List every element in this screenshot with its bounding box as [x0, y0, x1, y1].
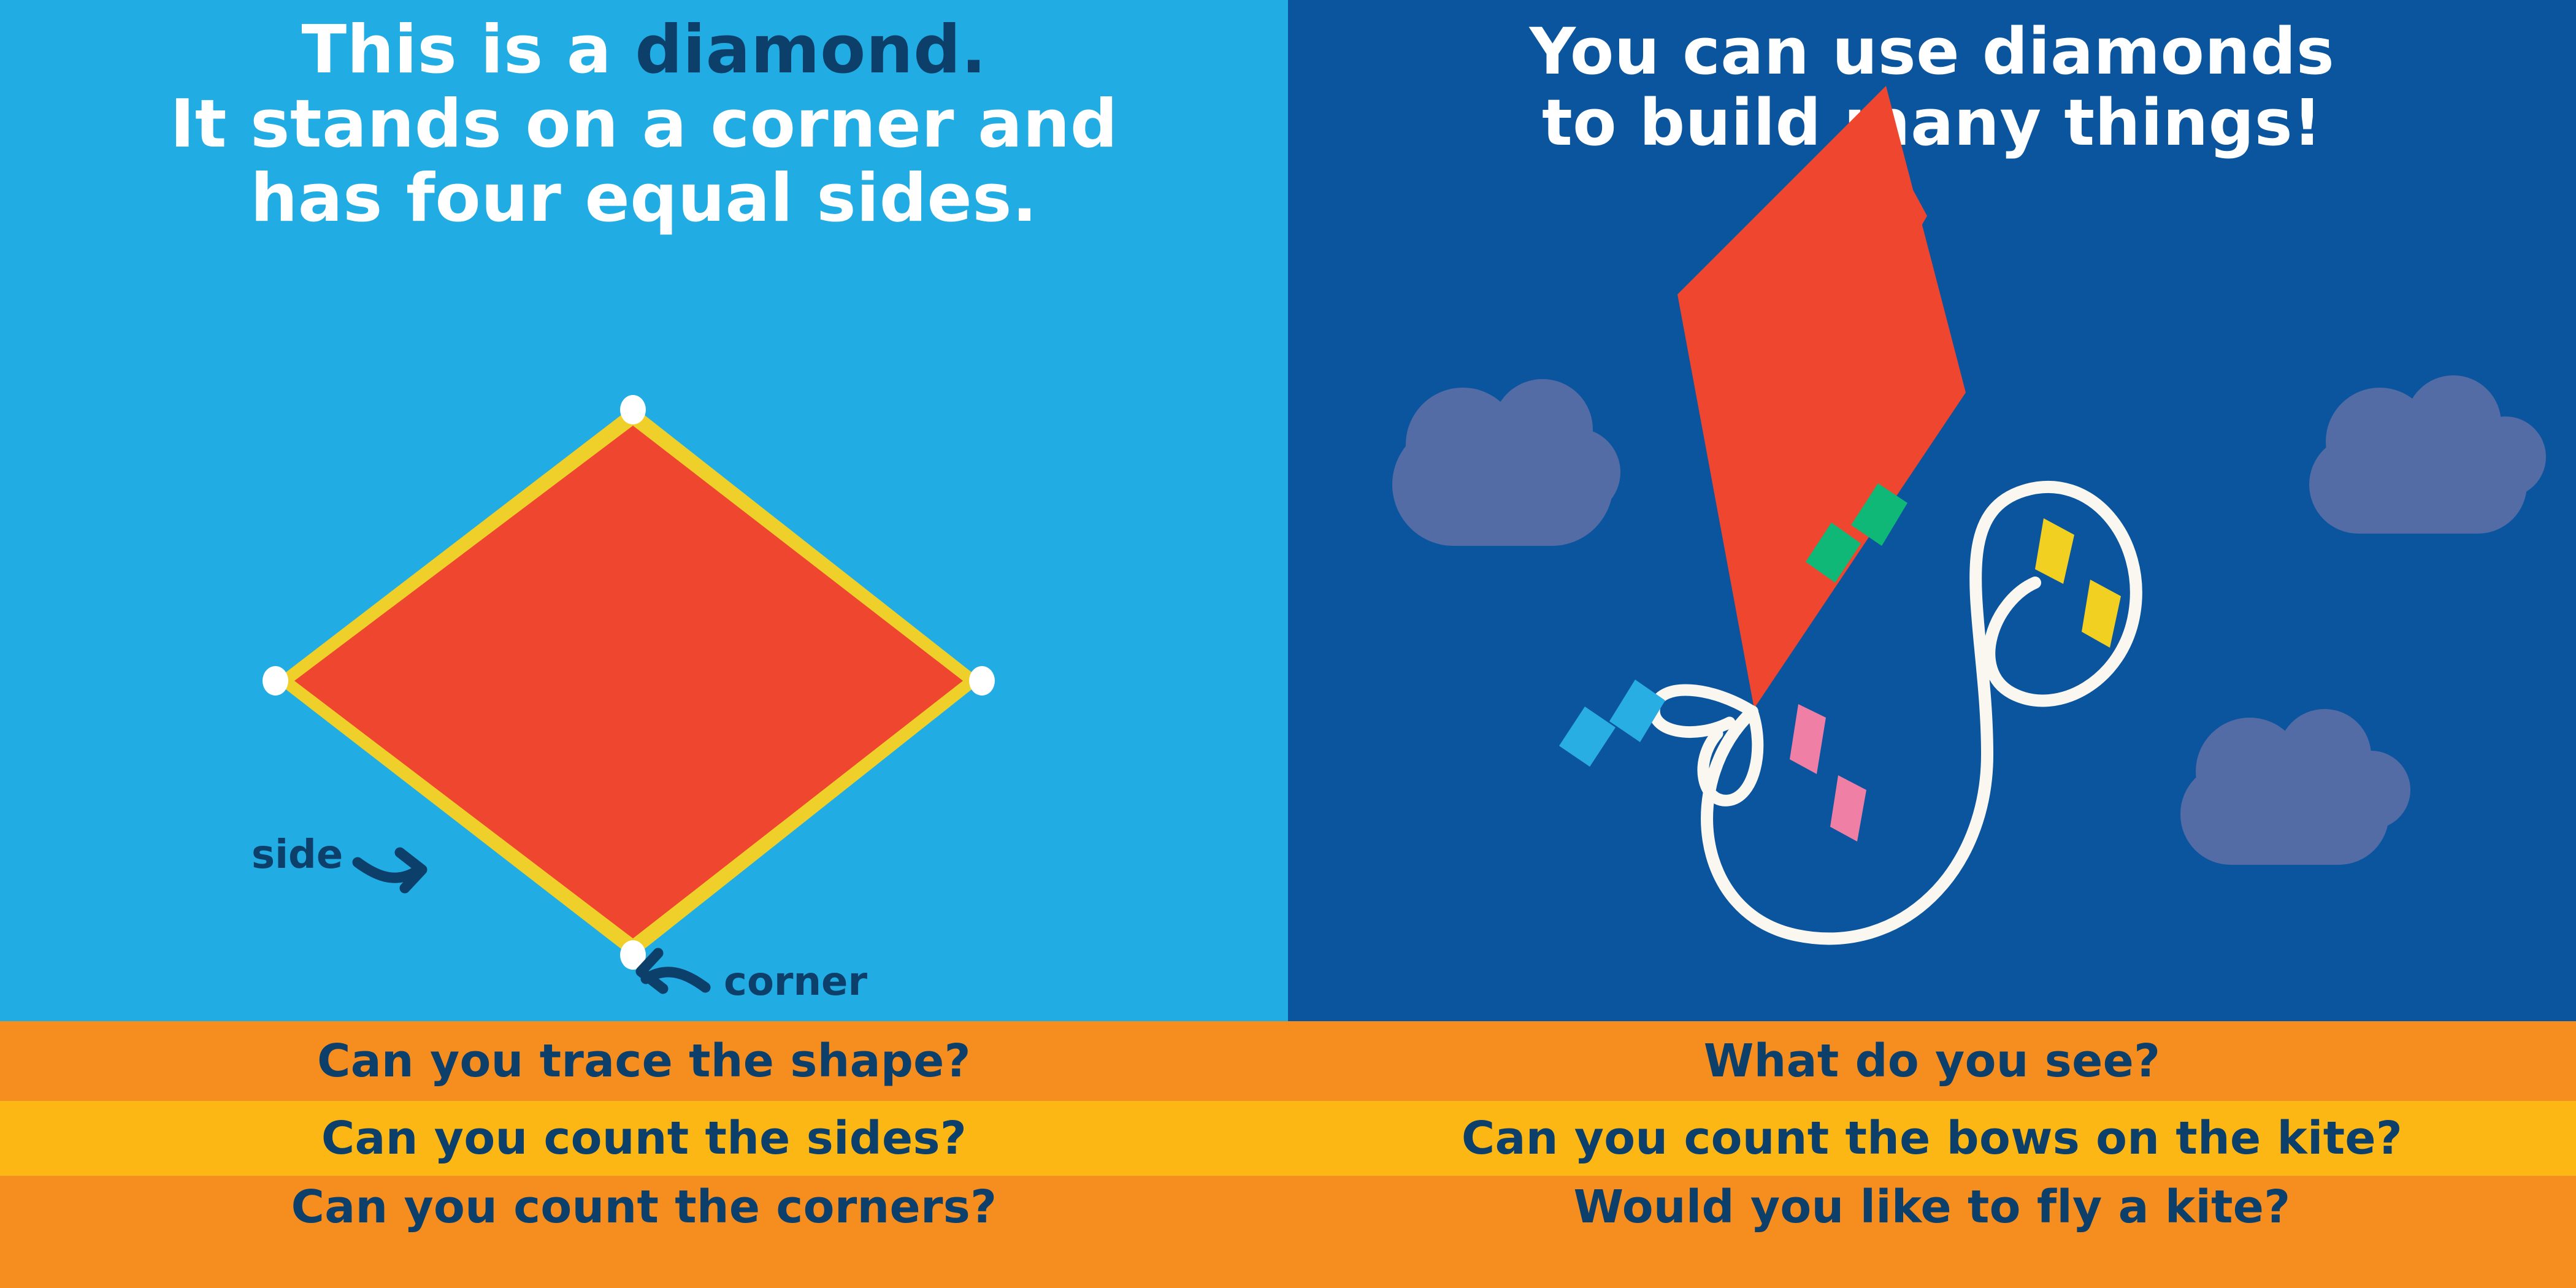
- tail-bow-pink: [1790, 704, 1866, 841]
- question-text: Can you count the corners?: [291, 1181, 997, 1233]
- vertex-dot-top: [620, 395, 646, 424]
- question-cell-right-3: Would you like to fly a kite?: [1288, 1176, 2576, 1288]
- question-band-2: Can you count the sides? Can you count t…: [0, 1101, 2576, 1176]
- question-band-1: Can you trace the shape? What do you see…: [0, 1021, 2576, 1101]
- question-text: Can you count the sides?: [321, 1112, 967, 1165]
- side-label: side: [251, 832, 343, 878]
- tail-bow-yellow: [2035, 518, 2121, 648]
- heading-text-before: This is a: [301, 12, 635, 88]
- vertex-dot-left: [263, 666, 288, 696]
- kite-body: [1677, 86, 1966, 708]
- question-text: What do you see?: [1704, 1035, 2161, 1087]
- page-root: This is a diamond. It stands on a corner…: [0, 0, 2576, 1288]
- heading-line-3: has four equal sides.: [0, 162, 1288, 236]
- question-cell-right-2: Can you count the bows on the kite?: [1288, 1101, 2576, 1176]
- heading-period: .: [961, 12, 987, 88]
- left-panel: This is a diamond. It stands on a corner…: [0, 0, 1288, 1021]
- cloud-icon-left: [1392, 379, 1620, 546]
- cloud-icon-bottom-right: [2180, 709, 2410, 865]
- left-panel-heading: This is a diamond. It stands on a corner…: [0, 13, 1288, 236]
- question-text: Can you trace the shape?: [317, 1035, 971, 1087]
- curved-arrow-left-icon: [641, 953, 705, 989]
- question-band-3: Can you count the corners? Would you lik…: [0, 1176, 2576, 1288]
- kite-figure: [1288, 0, 2576, 1021]
- question-cell-right-1: What do you see?: [1288, 1021, 2576, 1101]
- question-text: Would you like to fly a kite?: [1573, 1181, 2290, 1233]
- vertex-dot-right: [969, 666, 995, 696]
- corner-label: corner: [724, 959, 867, 1005]
- question-text: Can you count the bows on the kite?: [1462, 1112, 2402, 1165]
- right-panel: You can use diamonds to build many thing…: [1288, 0, 2576, 1021]
- tail-bow-blue: [1559, 680, 1665, 767]
- question-cell-left-2: Can you count the sides?: [0, 1101, 1288, 1176]
- diamond-figure: side corner: [233, 368, 1055, 1018]
- curved-arrow-right-icon: [358, 853, 422, 888]
- diamond-fill: [294, 426, 963, 938]
- heading-line-1: This is a diamond.: [0, 13, 1288, 88]
- kite-bow-knot: [1654, 690, 1758, 800]
- question-cell-left-3: Can you count the corners?: [0, 1176, 1288, 1288]
- heading-line-2: It stands on a corner and: [0, 88, 1288, 162]
- heading-keyword-diamond: diamond: [635, 12, 961, 88]
- question-cell-left-1: Can you trace the shape?: [0, 1021, 1288, 1101]
- cloud-icon-top-right: [2309, 375, 2546, 534]
